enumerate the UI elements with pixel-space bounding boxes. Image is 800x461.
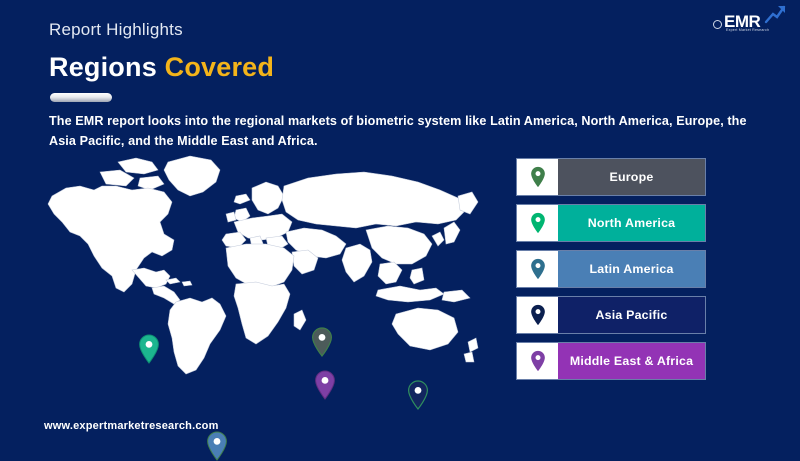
legend-pin-box bbox=[517, 205, 558, 241]
map-pin-icon bbox=[530, 166, 546, 188]
map-pin-icon bbox=[530, 304, 546, 326]
map-pin-icon bbox=[530, 258, 546, 280]
legend-label-asia-pacific: Asia Pacific bbox=[558, 297, 705, 333]
page-title-primary: Regions bbox=[49, 52, 157, 82]
intro-paragraph: The EMR report looks into the regional m… bbox=[49, 112, 755, 151]
world-map bbox=[40, 152, 480, 396]
legend-row-latin-america[interactable]: Latin America bbox=[516, 250, 706, 288]
map-pin-asia-pacific[interactable] bbox=[407, 380, 429, 410]
legend-pin-box bbox=[517, 159, 558, 195]
logo-tagline: Expert Market Research bbox=[726, 28, 769, 32]
growth-arrow-icon bbox=[764, 4, 786, 24]
map-pin-icon bbox=[530, 212, 546, 234]
regions-legend: Europe North America Latin America Asia … bbox=[516, 158, 706, 388]
legend-row-north-america[interactable]: North America bbox=[516, 204, 706, 242]
eyebrow-label: Report Highlights bbox=[49, 20, 183, 40]
legend-label-north-america: North America bbox=[558, 205, 705, 241]
map-pin-europe[interactable] bbox=[311, 327, 333, 357]
legend-row-europe[interactable]: Europe bbox=[516, 158, 706, 196]
title-divider bbox=[50, 93, 112, 102]
page-title-accent: Covered bbox=[165, 52, 274, 82]
legend-row-middle-east-africa[interactable]: Middle East & Africa bbox=[516, 342, 706, 380]
map-pin-latin-america[interactable] bbox=[206, 431, 228, 461]
legend-row-asia-pacific[interactable]: Asia Pacific bbox=[516, 296, 706, 334]
map-pin-middle-east-africa[interactable] bbox=[314, 370, 336, 400]
emr-logo: EMR Expert Market Research bbox=[710, 4, 788, 38]
legend-pin-box bbox=[517, 297, 558, 333]
map-pin-icon bbox=[530, 350, 546, 372]
map-landmasses bbox=[48, 156, 478, 374]
page-title: Regions Covered bbox=[49, 52, 274, 83]
legend-pin-box bbox=[517, 251, 558, 287]
legend-label-europe: Europe bbox=[558, 159, 705, 195]
legend-pin-box bbox=[517, 343, 558, 379]
legend-label-middle-east-africa: Middle East & Africa bbox=[558, 343, 705, 379]
footer-url[interactable]: www.expertmarketresearch.com bbox=[44, 420, 219, 432]
circle-icon bbox=[713, 20, 722, 29]
world-map-svg bbox=[40, 152, 480, 396]
map-pin-north-america[interactable] bbox=[138, 334, 160, 364]
legend-label-latin-america: Latin America bbox=[558, 251, 705, 287]
